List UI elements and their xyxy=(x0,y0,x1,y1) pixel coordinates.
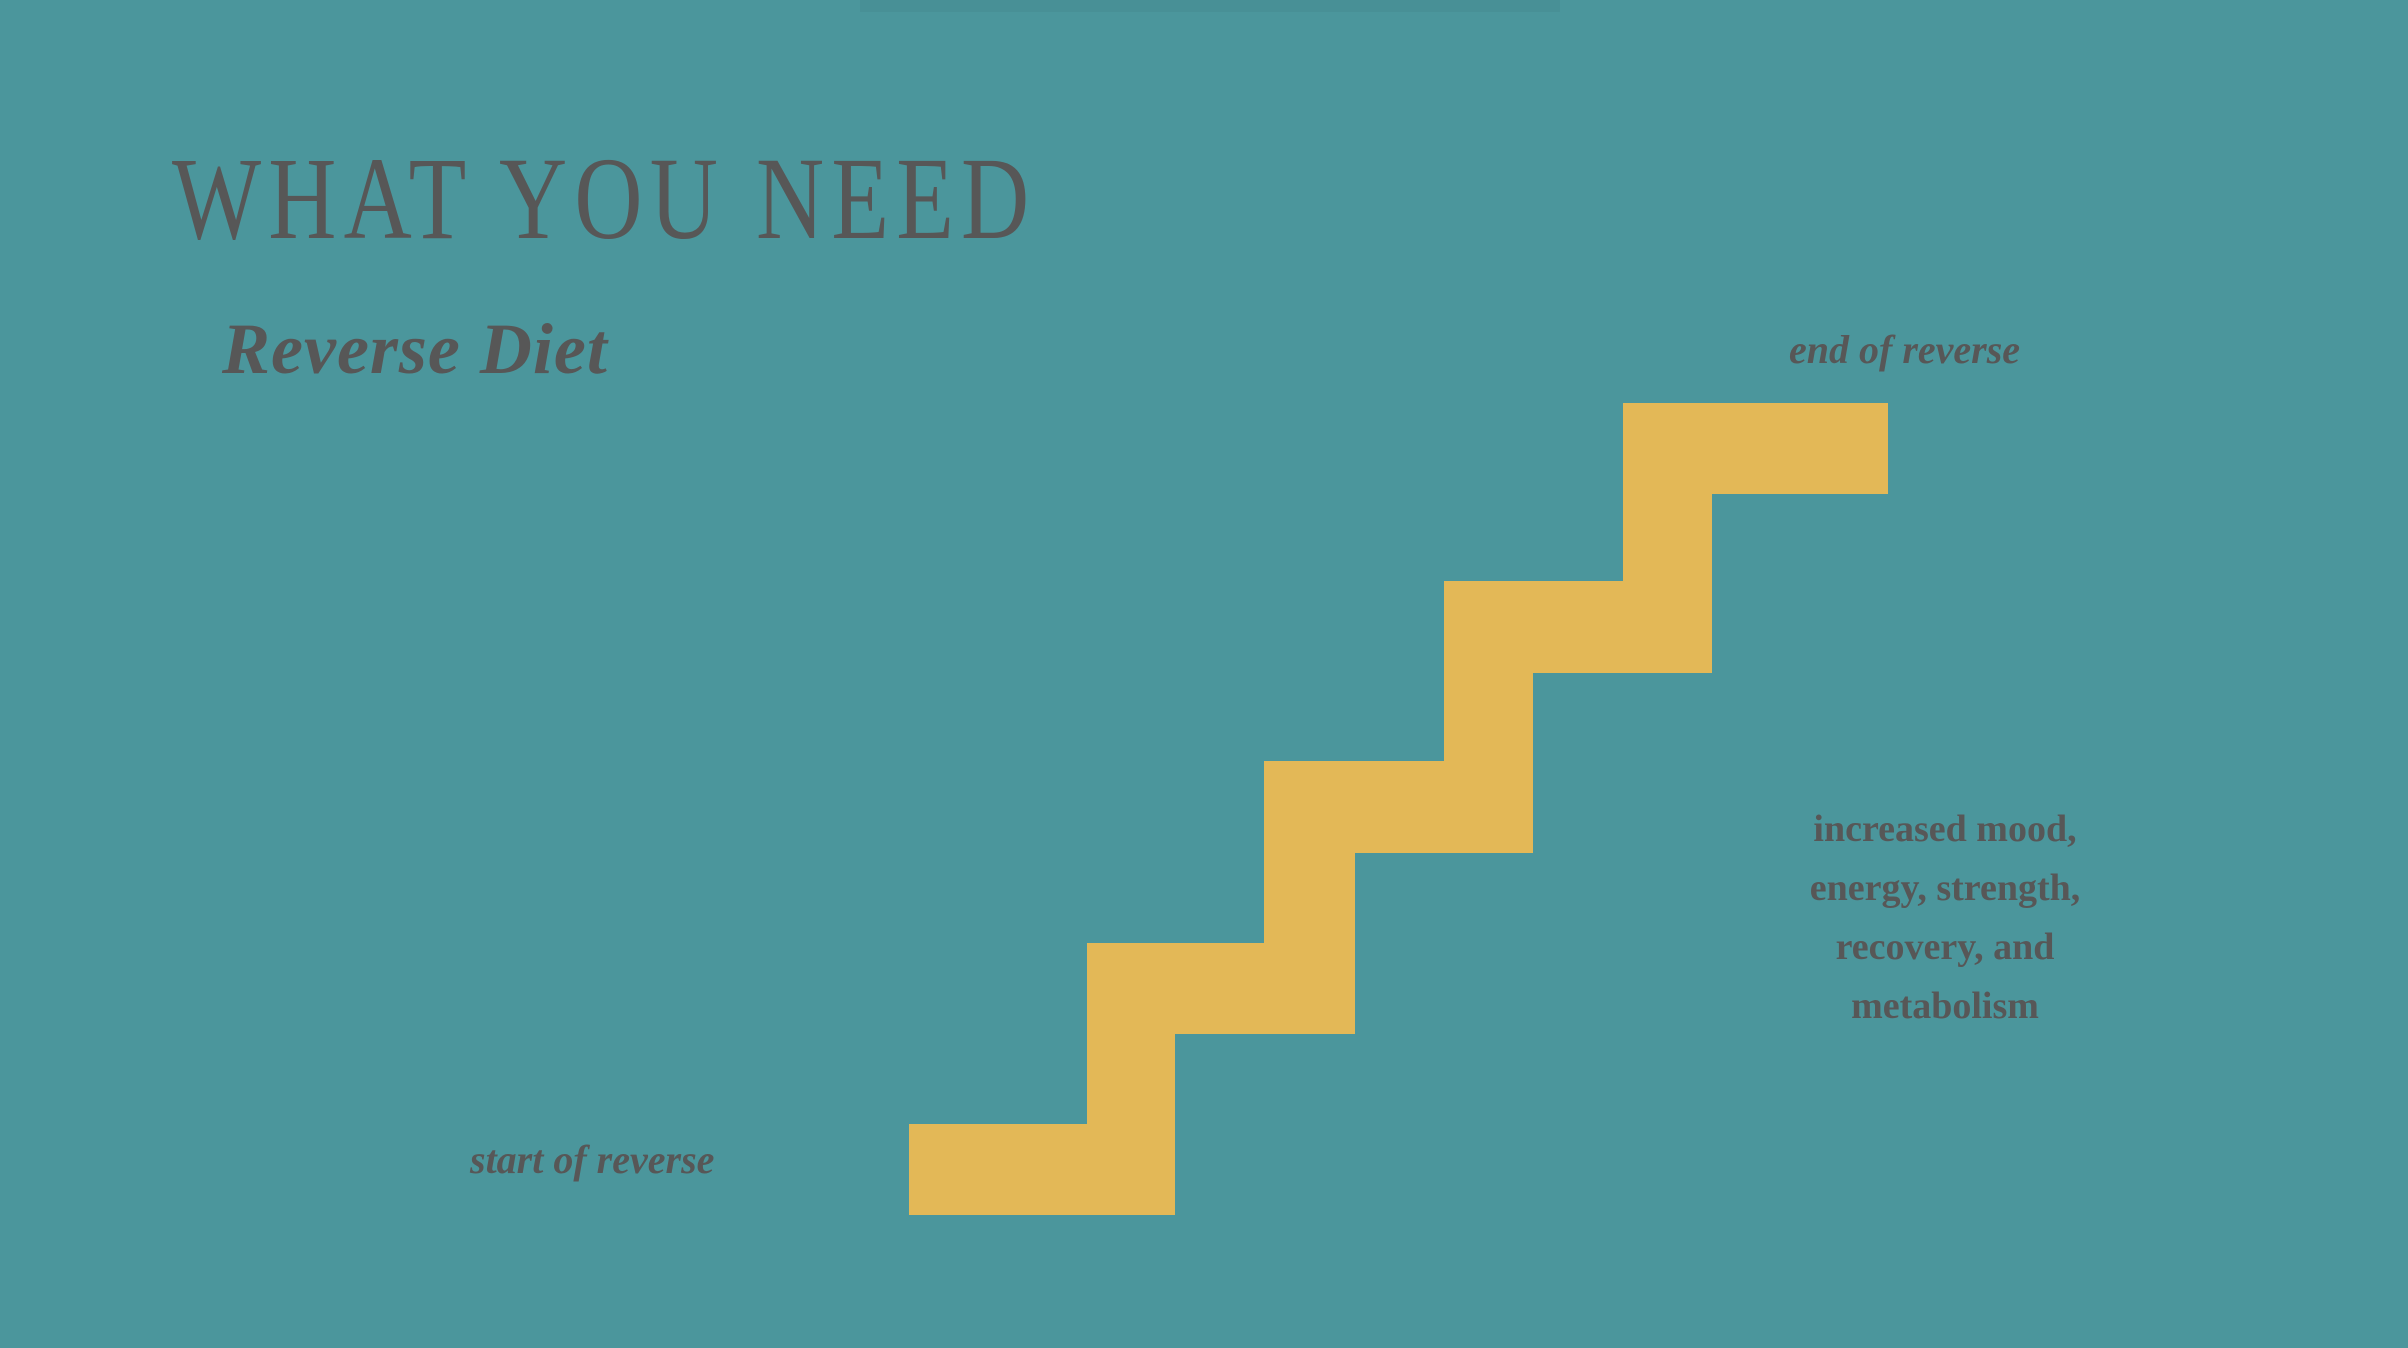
stair-riser-2-3 xyxy=(1264,761,1355,1034)
stair-riser-1-2 xyxy=(1087,943,1175,1215)
label-start-of-reverse: start of reverse xyxy=(470,1140,714,1180)
stair-riser-4-5 xyxy=(1623,403,1712,673)
benefits-line-1: increased mood, xyxy=(1735,800,2155,859)
benefits-line-2: energy, strength, xyxy=(1735,859,2155,918)
benefits-annotation: increased mood, energy, strength, recove… xyxy=(1735,800,2155,1036)
label-end-of-reverse: end of reverse xyxy=(1789,330,2020,370)
poster-canvas: WHAT YOU NEED Reverse Diet start of reve… xyxy=(0,0,2408,1348)
benefits-line-4: metabolism xyxy=(1735,977,2155,1036)
page-title: WHAT YOU NEED xyxy=(172,140,1036,258)
stair-riser-3-4 xyxy=(1444,581,1533,853)
page-subtitle: Reverse Diet xyxy=(222,313,608,385)
benefits-line-3: recovery, and xyxy=(1735,918,2155,977)
